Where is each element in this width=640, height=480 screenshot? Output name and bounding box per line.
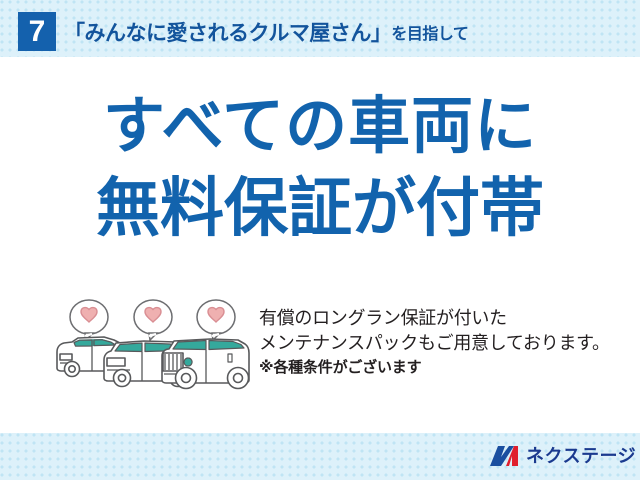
nextage-n-mark-icon	[489, 445, 519, 467]
body-copy-line-1: 有償のロングラン保証が付いた	[259, 306, 629, 331]
heart-bubble-left	[70, 300, 108, 340]
heart-bubble-right	[197, 300, 235, 340]
brand-logo: ネクステージ	[489, 445, 636, 467]
body-copy-note: ※各種条件がございます	[259, 356, 629, 380]
brand-name: ネクステージ	[526, 445, 636, 467]
header-title-tail: を目指して	[391, 20, 468, 45]
hero-headline-line-2: 無料保証が付帯	[0, 176, 640, 240]
section-number-badge: 7	[18, 12, 56, 51]
hero-headline-line-1: すべての車両に	[0, 96, 640, 158]
car-right	[162, 339, 249, 389]
header-title: 「みんなに愛されるクルマ屋さん」 を目指して	[64, 13, 468, 51]
hero-headline: すべての車両に 無料保証が付帯	[0, 96, 640, 240]
header-title-quote: 「みんなに愛されるクルマ屋さん」	[64, 17, 391, 47]
body-copy: 有償のロングラン保証が付いた メンテナンスパックもご用意しております。 ※各種条…	[259, 306, 629, 380]
heart-bubble-center	[134, 300, 172, 340]
promo-banner: 7 「みんなに愛されるクルマ屋さん」 を目指して すべての車両に 無料保証が付帯	[0, 0, 640, 480]
body-copy-line-2: メンテナンスパックもご用意しております。	[259, 331, 629, 356]
three-cars-illustration	[52, 296, 252, 392]
